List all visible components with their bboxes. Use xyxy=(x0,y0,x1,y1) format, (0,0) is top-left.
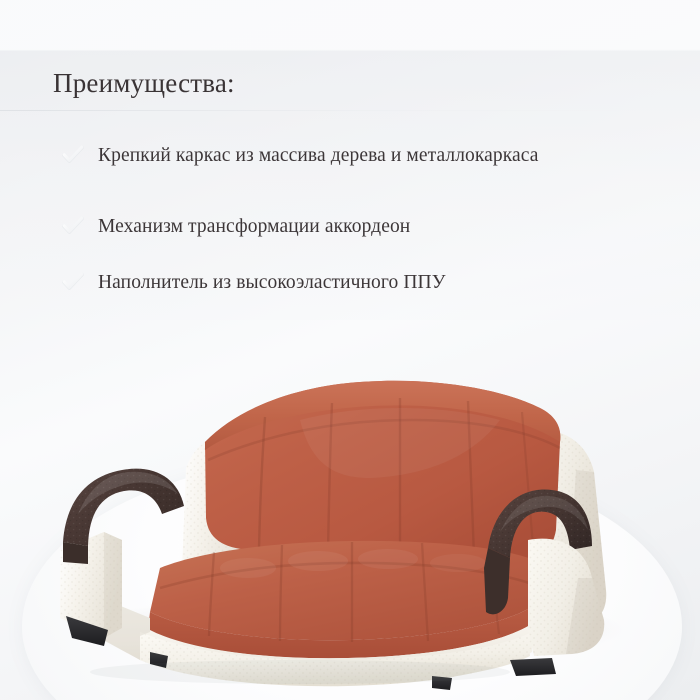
sofa-leg-front-right xyxy=(510,658,556,676)
list-item: Крепкий каркас из массива дерева и метал… xyxy=(62,142,539,170)
list-item: Механизм трансформации аккордеон xyxy=(62,213,410,241)
product-image-stage xyxy=(0,300,700,700)
right-armrest-lower xyxy=(484,548,510,614)
page-title: Преимущества: xyxy=(53,66,235,100)
sofa-accordion-photo xyxy=(0,300,700,700)
list-item: Наполнитель из высокоэластичного ППУ xyxy=(62,269,446,297)
panel-divider xyxy=(0,110,640,111)
product-benefits-card: Преимущества: Крепкий каркас из массива … xyxy=(0,0,700,700)
check-icon xyxy=(62,215,84,237)
list-item-label: Наполнитель из высокоэластичного ППУ xyxy=(98,269,446,297)
list-item-label: Механизм трансформации аккордеон xyxy=(98,213,410,241)
list-item-label: Крепкий каркас из массива дерева и метал… xyxy=(98,142,539,170)
check-icon xyxy=(62,144,84,166)
check-icon xyxy=(62,271,84,293)
